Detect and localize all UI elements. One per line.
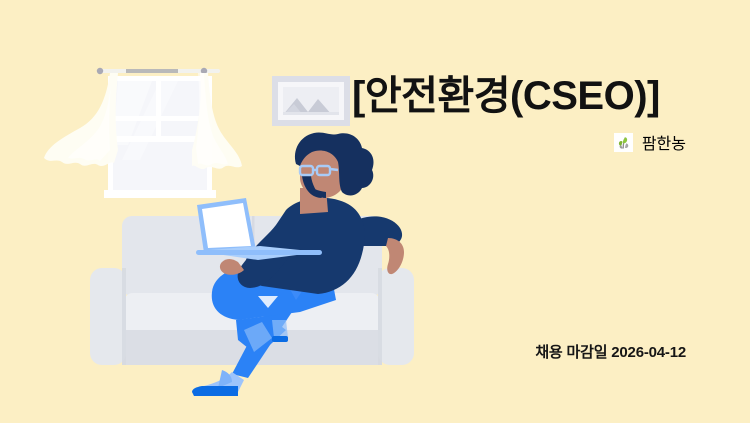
company-row: 팜한농 bbox=[614, 130, 686, 154]
deadline-text: 채용 마감일 2026-04-12 bbox=[535, 341, 686, 362]
person-on-sofa-with-laptop-illustration bbox=[0, 0, 470, 423]
job-posting-card: [안전환경(CSEO)] 팜한농 채용 마감일 2026-04-12 bbox=[0, 0, 750, 423]
page-title: [안전환경(CSEO)] bbox=[352, 72, 660, 120]
company-name: 팜한농 bbox=[642, 130, 686, 154]
picture-frame bbox=[272, 76, 350, 126]
farmhannong-logo-icon bbox=[614, 133, 633, 152]
